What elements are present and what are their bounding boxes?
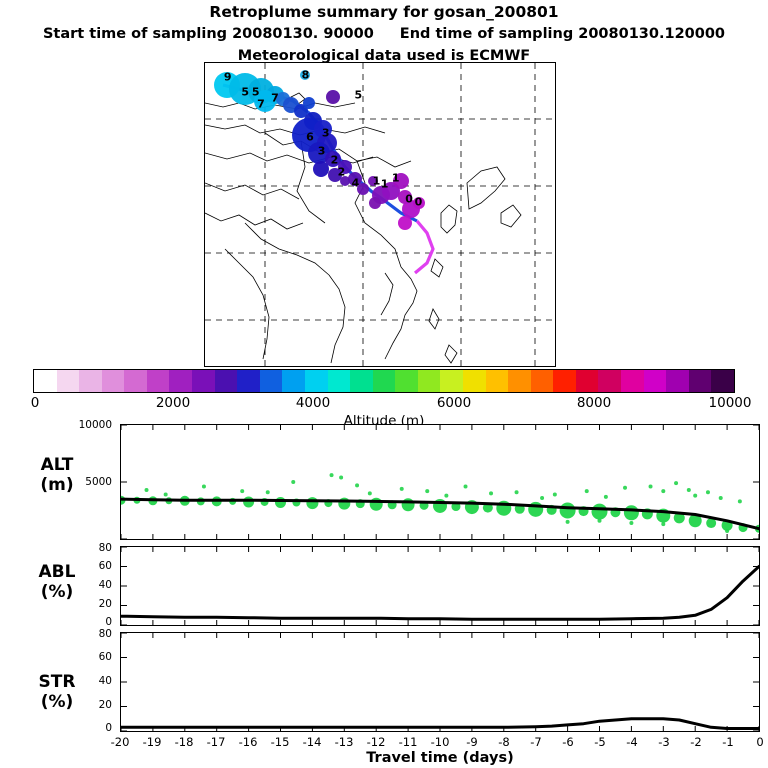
str-ytick: 0 (66, 722, 112, 734)
abl-ytick: 60 (66, 560, 112, 572)
x-tick-label: -19 (143, 735, 162, 749)
colorbar-segment (350, 370, 373, 392)
colorbar-segment (124, 370, 147, 392)
x-tick-label: -8 (498, 735, 509, 749)
abl-ytick: 0 (66, 616, 112, 628)
x-tick-label: -2 (690, 735, 701, 749)
abl-plot-svg (121, 547, 759, 625)
abl-ytick: 20 (66, 598, 112, 610)
colorbar-tick: 0 (31, 395, 40, 411)
colorbar-tick: 6000 (437, 395, 471, 411)
x-tick-label: -9 (466, 735, 477, 749)
colorbar-segment (169, 370, 192, 392)
start-time-label: Start time of sampling 20080130. 90000 (43, 26, 374, 42)
x-tick-label: -11 (399, 735, 418, 749)
x-tick-label: -20 (111, 735, 130, 749)
x-tick-label: -13 (335, 735, 354, 749)
alt-ytick: 5000 (66, 476, 112, 488)
x-tick-label: -18 (175, 735, 194, 749)
str-ytick: 20 (66, 699, 112, 711)
colorbar-segment (666, 370, 689, 392)
x-tick-label: -7 (530, 735, 541, 749)
x-tick-label: -17 (207, 735, 226, 749)
x-tick-label: -15 (271, 735, 290, 749)
alt-axis-label-line1: ALT (0, 455, 114, 475)
str-ytick: 80 (66, 628, 112, 640)
colorbar-segment (711, 370, 734, 392)
colorbar-tick: 2000 (156, 395, 190, 411)
end-time-label: End time of sampling 20080130.120000 (400, 26, 725, 42)
abl-ytick: 80 (66, 542, 112, 554)
str-plot-svg (121, 633, 759, 731)
colorbar-segment (57, 370, 80, 392)
x-tick-label: 0 (756, 735, 763, 749)
sampling-times: Start time of sampling 20080130. 90000En… (0, 26, 768, 42)
colorbar-segment (192, 370, 215, 392)
map-svg (205, 63, 555, 366)
str-ytick: 40 (66, 675, 112, 687)
colorbar-segment (305, 370, 328, 392)
colorbar-segment (553, 370, 576, 392)
x-tick-label: -12 (367, 735, 386, 749)
colorbar-strip (33, 369, 735, 393)
x-tick-label: -14 (303, 735, 322, 749)
str-ytick: 60 (66, 651, 112, 663)
str-plot[interactable] (120, 632, 760, 732)
page-title: Retroplume summary for gosan_200801 (0, 3, 768, 21)
x-tick-label: -6 (562, 735, 573, 749)
colorbar-segment (463, 370, 486, 392)
colorbar-tick: 8000 (577, 395, 611, 411)
colorbar-segment (531, 370, 554, 392)
x-tick-label: -4 (626, 735, 637, 749)
colorbar-segment (282, 370, 305, 392)
alt-axis-label: ALT (m) (0, 455, 114, 495)
abl-plot[interactable] (120, 546, 760, 626)
colorbar-segment (260, 370, 283, 392)
colorbar-segment (598, 370, 621, 392)
x-tick-label: -5 (594, 735, 605, 749)
retroplume-map[interactable]: 9 5 5 8 7 7 5 6 3 3 2 2 4 1 1 1 0 0 (204, 62, 556, 367)
colorbar-tick: 4000 (296, 395, 330, 411)
colorbar-segment (147, 370, 170, 392)
colorbar-segment (621, 370, 644, 392)
colorbar-segment (576, 370, 599, 392)
colorbar-segment (395, 370, 418, 392)
x-axis-label: Travel time (days) (120, 750, 760, 766)
colorbar-segment (440, 370, 463, 392)
colorbar-segment (486, 370, 509, 392)
x-tick-label: -1 (722, 735, 733, 749)
x-tick-label: -16 (239, 735, 258, 749)
x-tick-label: -3 (658, 735, 669, 749)
colorbar-segment (34, 370, 57, 392)
colorbar-segment (508, 370, 531, 392)
alt-plot-svg (121, 425, 759, 539)
colorbar-segment (215, 370, 238, 392)
colorbar: 0 2000 4000 6000 8000 10000 Altitude (m) (33, 369, 735, 393)
colorbar-segment (79, 370, 102, 392)
colorbar-segment (689, 370, 712, 392)
colorbar-segment (328, 370, 351, 392)
alt-ytick: 10000 (66, 419, 112, 431)
alt-plot[interactable] (120, 424, 760, 540)
colorbar-tick: 10000 (709, 395, 752, 411)
colorbar-segment (373, 370, 396, 392)
colorbar-segment (237, 370, 260, 392)
colorbar-segment (418, 370, 441, 392)
colorbar-segment (644, 370, 667, 392)
abl-ytick: 40 (66, 579, 112, 591)
x-tick-label: -10 (431, 735, 450, 749)
colorbar-segment (102, 370, 125, 392)
